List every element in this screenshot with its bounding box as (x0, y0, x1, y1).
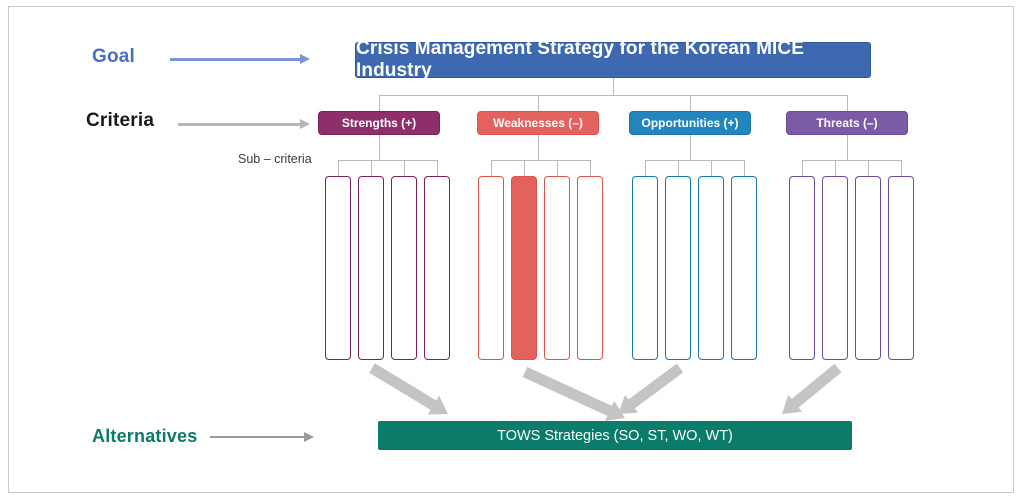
alternatives-node: TOWS Strategies (SO, ST, WO, WT) (378, 421, 852, 450)
diagram-canvas: Goal Criteria Sub – criteria Alternative… (0, 0, 1024, 501)
